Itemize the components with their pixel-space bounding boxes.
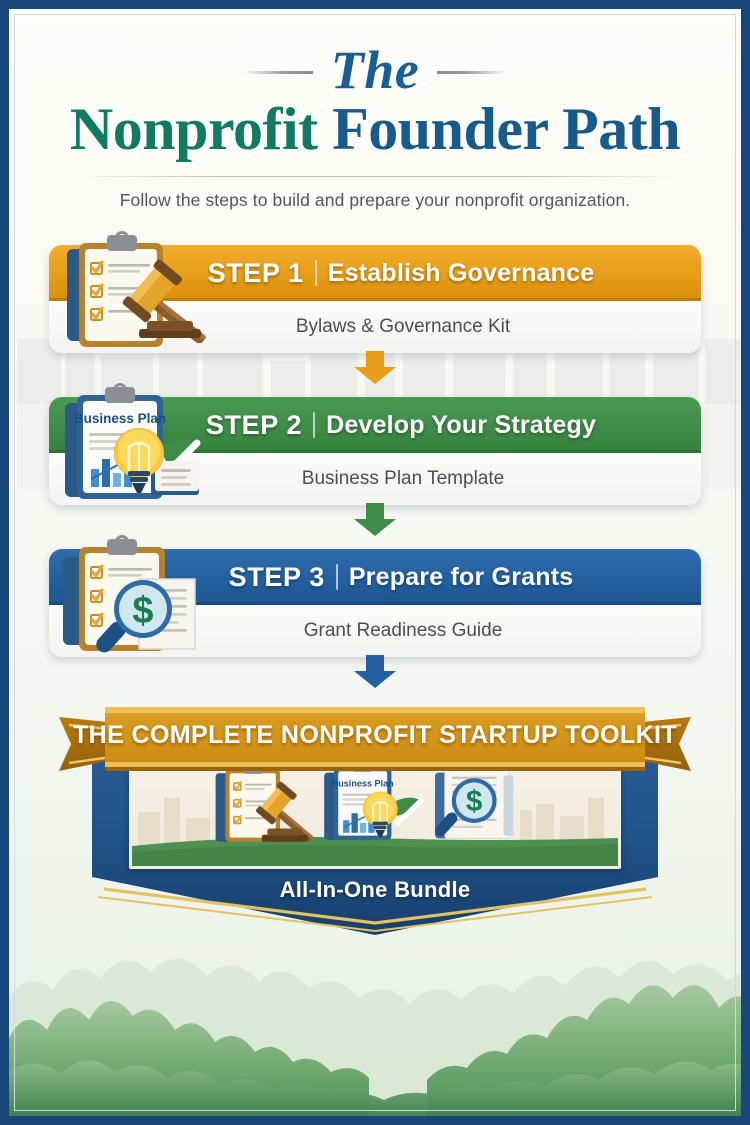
- step-band-3: STEP 3 Prepare for Grants: [49, 549, 701, 605]
- step-number-1: STEP 1: [208, 258, 304, 289]
- step-card-1: STEP 1 Establish Governance Bylaws & Gov…: [49, 245, 701, 353]
- bundle-section[interactable]: Business Plan: [9, 695, 741, 945]
- poster-header: The Nonprofit Founder Path Follow the st…: [9, 9, 741, 211]
- infographic-poster: The Nonprofit Founder Path Follow the st…: [0, 0, 750, 1125]
- step-title-1: Establish Governance: [328, 259, 595, 288]
- band-separator: [313, 412, 315, 438]
- step-title-3: Prepare for Grants: [349, 563, 574, 592]
- band-separator: [315, 260, 317, 286]
- step-number-2: STEP 2: [206, 410, 302, 441]
- step-arrow-1-to-2: [352, 351, 398, 385]
- step-deliverable-1: Bylaws & Governance Kit: [49, 301, 701, 353]
- step-band-1: STEP 1 Establish Governance: [49, 245, 701, 301]
- header-divider: [75, 176, 675, 177]
- page-title-line1: The: [305, 43, 446, 97]
- svg-text:$: $: [466, 785, 482, 818]
- step-card-2: STEP 2 Develop Your Strategy Business Pl…: [49, 397, 701, 505]
- step-row-3[interactable]: STEP 3 Prepare for Grants Grant Readines…: [49, 537, 701, 659]
- bundle-ribbon-title: THE COMPLETE NONPROFIT STARTUP TOOLKIT: [9, 721, 741, 750]
- step-arrow-3-to-bundle: [352, 655, 398, 689]
- page-title-line2: Nonprofit Founder Path: [9, 99, 741, 160]
- step-arrow-2-to-3: [352, 503, 398, 537]
- page-subtitle: Follow the steps to build and prepare yo…: [9, 190, 741, 211]
- step-band-2: STEP 2 Develop Your Strategy: [49, 397, 701, 453]
- step-row-1[interactable]: STEP 1 Establish Governance Bylaws & Gov…: [49, 233, 701, 355]
- step-deliverable-2: Business Plan Template: [49, 453, 701, 505]
- page-title-nonprofit: Nonprofit: [70, 96, 318, 162]
- step-title-2: Develop Your Strategy: [326, 411, 596, 440]
- page-title-founder-path: Founder Path: [332, 96, 680, 162]
- steps-list: STEP 1 Establish Governance Bylaws & Gov…: [9, 233, 741, 689]
- step-row-2[interactable]: STEP 2 Develop Your Strategy Business Pl…: [49, 385, 701, 507]
- step-deliverable-3: Grant Readiness Guide: [49, 605, 701, 657]
- band-separator: [336, 564, 338, 590]
- step-number-3: STEP 3: [229, 562, 325, 593]
- step-card-3: STEP 3 Prepare for Grants Grant Readines…: [49, 549, 701, 657]
- bundle-subtitle: All-In-One Bundle: [9, 877, 741, 903]
